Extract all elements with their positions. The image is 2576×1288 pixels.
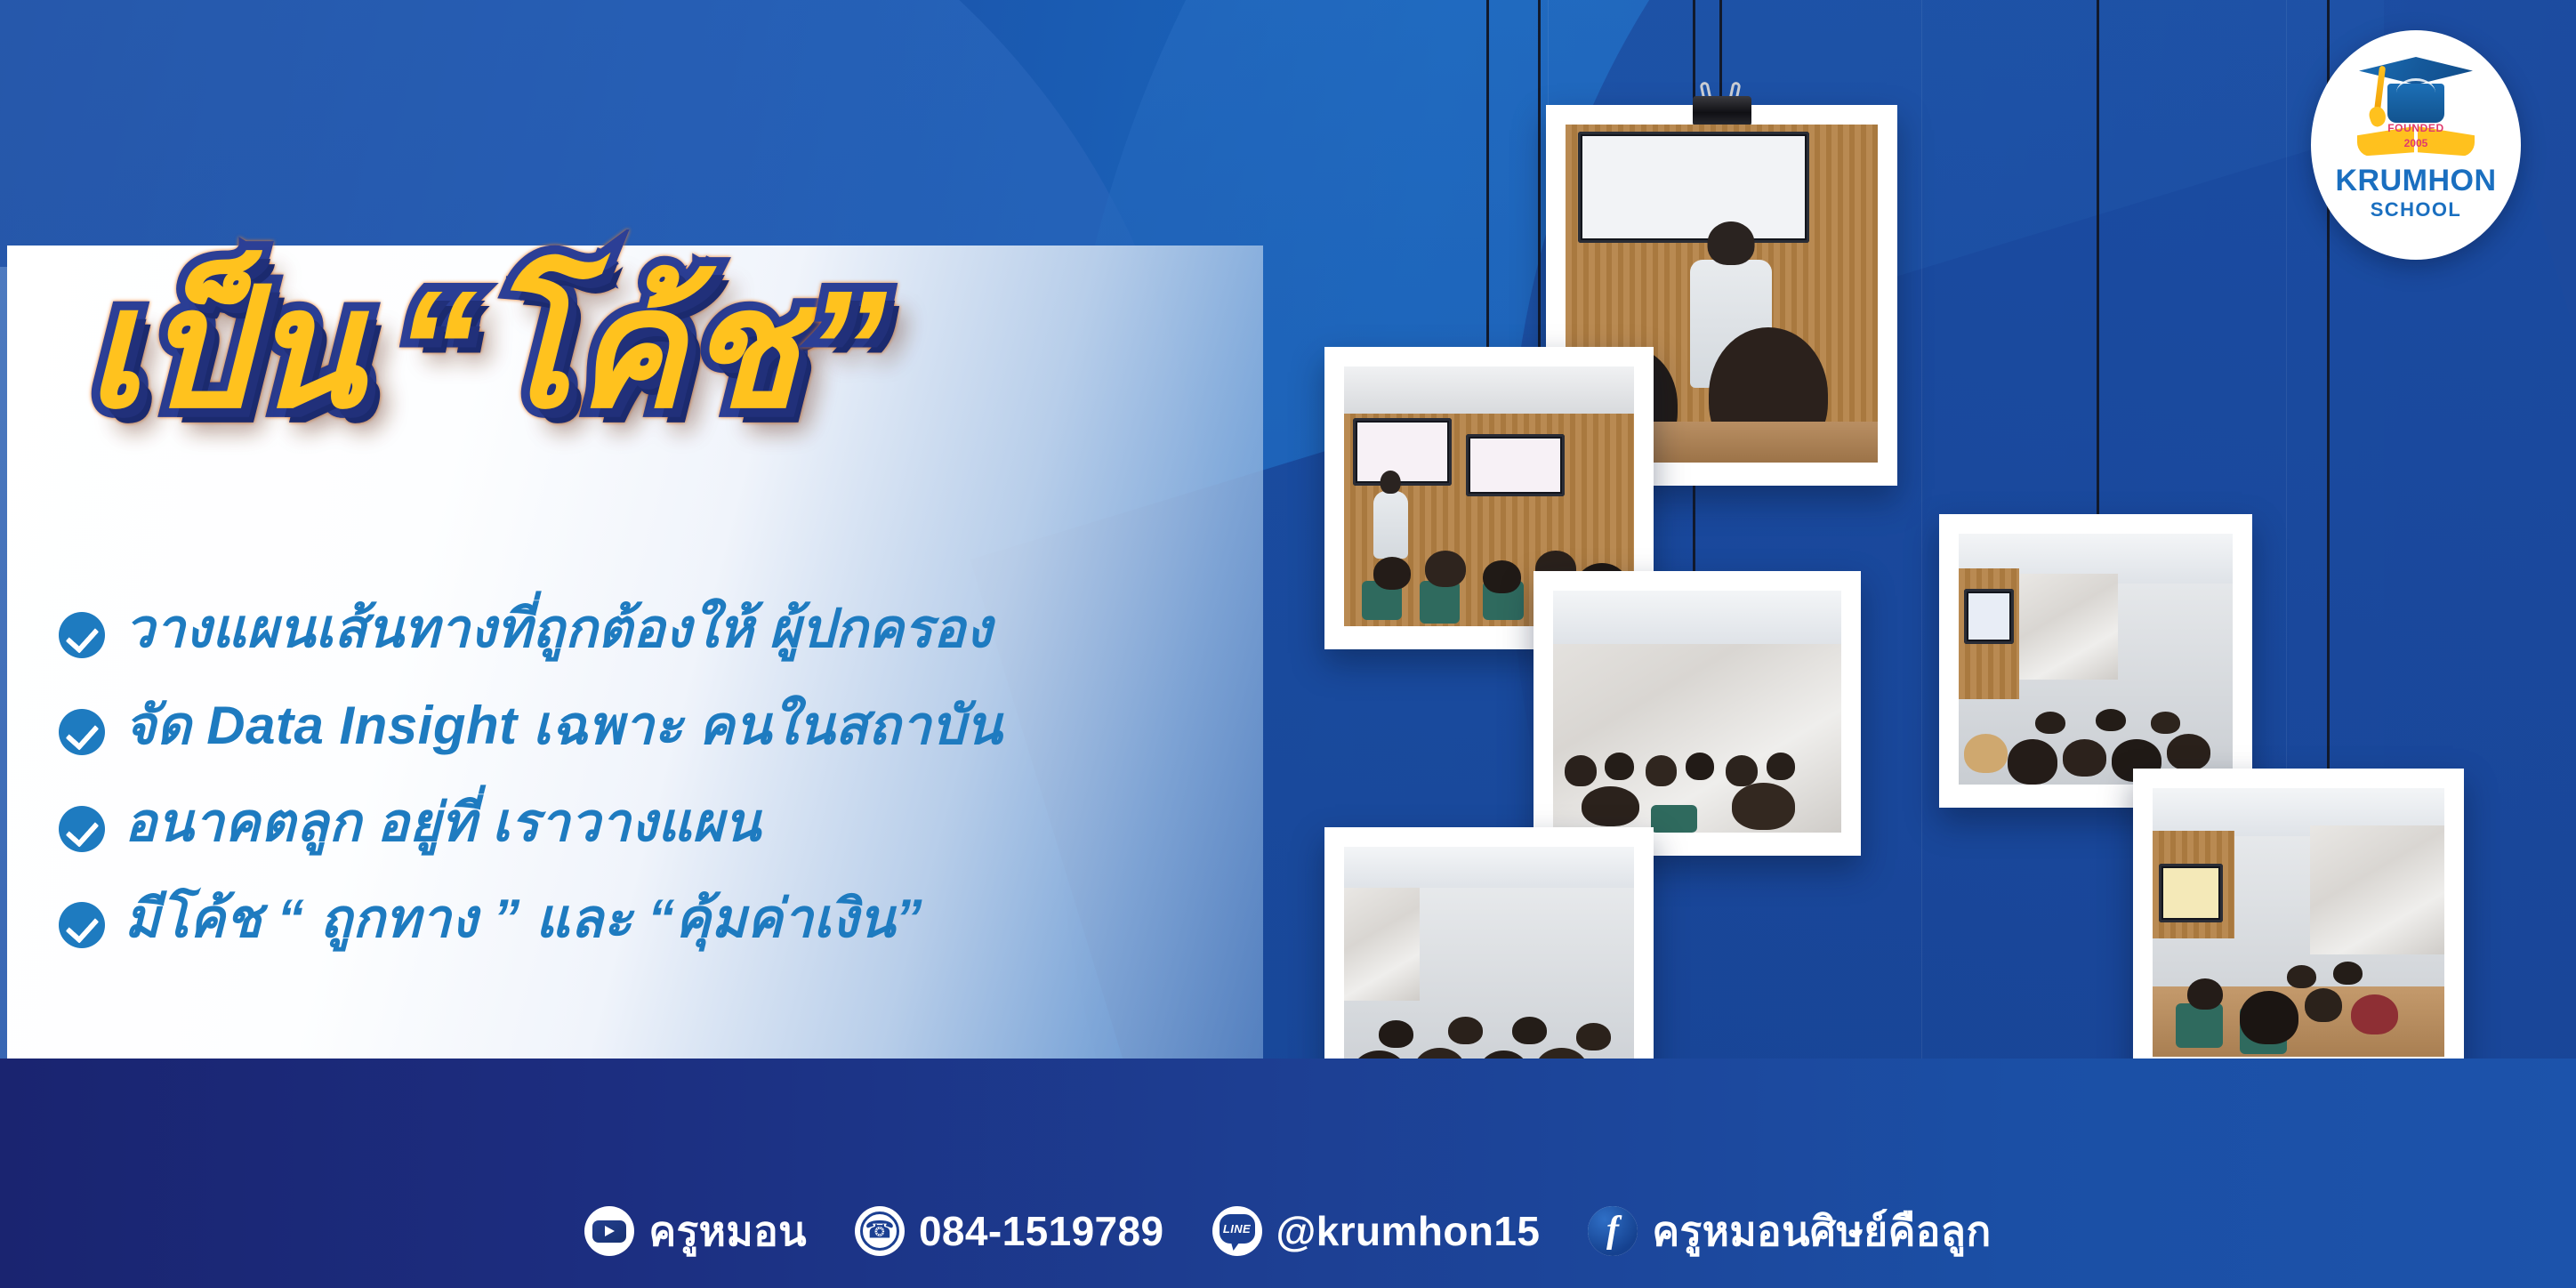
facebook-icon [1588,1206,1638,1256]
contact-bar: ครูหมอน 084-1519789 LINE @krumhon15 ครูห… [0,1059,2576,1288]
photo-image [1959,534,2233,785]
contact-facebook[interactable]: ครูหมอนศิษย์คือลูก [1588,1206,1991,1256]
photo-card [1939,514,2252,808]
photo-card [1534,571,1861,856]
line-icon-label: LINE [1220,1214,1255,1244]
photo-image [2153,788,2444,1057]
contact-line[interactable]: LINE @krumhon15 [1212,1206,1541,1256]
binder-clip-icon [1687,85,1757,126]
logo-brand-name: KRUMHON [2335,165,2496,196]
contact-phone[interactable]: 084-1519789 [855,1206,1164,1256]
contact-label: 084-1519789 [919,1211,1164,1252]
founded-label: FOUNDED 2005 [2387,121,2444,151]
contact-label: ครูหมอนศิษย์คือลูก [1652,1211,1991,1252]
youtube-icon [584,1206,634,1256]
photo-image [1553,591,1841,833]
brand-logo: FOUNDED 2005 KRUMHON SCHOOL [2311,30,2521,260]
line-icon: LINE [1212,1206,1262,1256]
photo-card [2133,769,2464,1080]
logo-subtitle: SCHOOL [2371,198,2462,221]
contact-label: @krumhon15 [1276,1211,1541,1252]
graduation-cap-icon [2359,57,2473,123]
wire [1486,0,1489,363]
contact-label: ครูหมอน [648,1211,807,1252]
phone-icon [855,1206,905,1256]
wire [2097,0,2099,528]
promo-banner: เป็น “ โค้ช ” วางแผนเส้นทางที่ถูกต้องให้… [0,0,2576,1288]
open-book-icon: FOUNDED 2005 [2355,121,2476,160]
contact-youtube[interactable]: ครูหมอน [584,1206,807,1256]
